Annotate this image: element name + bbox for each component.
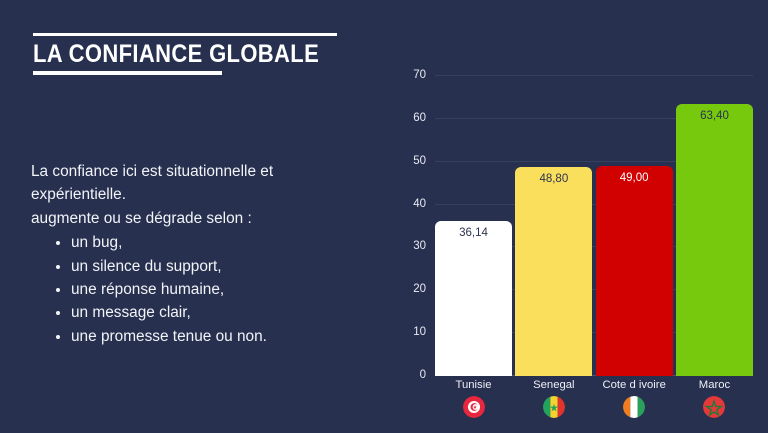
chart-y-tick-label: 60 (413, 112, 426, 124)
chart-bar-value-label: 63,40 (676, 110, 753, 122)
chart-bar-value-label: 36,14 (435, 227, 512, 239)
body-bullet-list: un bug, un silence du support, une répon… (31, 231, 371, 348)
chart-flag-cell (676, 396, 753, 418)
chart-category-label: Cote d ivoire (596, 379, 673, 391)
chart-plot-area: 010203040506070 36,1448,8049,0063,40 (435, 76, 753, 376)
chart-bar-slot[interactable]: 63,40 (676, 76, 753, 376)
chart-bar-value-label: 48,80 (515, 173, 592, 185)
morocco-flag-icon (703, 396, 725, 418)
chart-bar[interactable]: 36,14 (435, 221, 512, 376)
chart-bar-slot[interactable]: 49,00 (596, 76, 673, 376)
chart-flag-cell (596, 396, 673, 418)
chart-y-tick-label: 20 (413, 283, 426, 295)
title-block: LA CONFIANCE GLOBALE (33, 33, 337, 75)
chart-flag-cell (515, 396, 592, 418)
chart-flag-row (435, 396, 753, 418)
chart-flag-cell (435, 396, 512, 418)
senegal-flag-icon (543, 396, 565, 418)
chart-category-labels: TunisieSenegalCote d ivoireMaroc (435, 379, 753, 391)
chart-bar-slot[interactable]: 36,14 (435, 76, 512, 376)
chart-bar-value-label: 49,00 (596, 172, 673, 184)
chart-category-label: Senegal (515, 379, 592, 391)
left-content-panel: LA CONFIANCE GLOBALE La confiance ici es… (0, 0, 400, 433)
list-item: une réponse humaine, (55, 278, 371, 301)
body-paragraph-1: La confiance ici est situationnelle et e… (31, 160, 371, 207)
cote-divoire-flag-icon (623, 396, 645, 418)
chart-bar[interactable]: 48,80 (515, 167, 592, 376)
body-text-block: La confiance ici est situationnelle et e… (31, 160, 371, 348)
chart-bar[interactable]: 49,00 (596, 166, 673, 376)
title-rule-bottom (33, 71, 222, 75)
chart-y-tick-label: 10 (413, 326, 426, 338)
list-item: un bug, (55, 231, 371, 254)
page-title: LA CONFIANCE GLOBALE (33, 41, 301, 67)
chart-bar-slot[interactable]: 48,80 (515, 76, 592, 376)
list-item: un silence du support, (55, 255, 371, 278)
chart-bars-group: 36,1448,8049,0063,40 (435, 76, 753, 376)
chart-y-tick-label: 0 (420, 369, 426, 381)
chart-y-tick-label: 30 (413, 240, 426, 252)
chart-y-tick-label: 70 (413, 69, 426, 81)
slide-canvas: LA CONFIANCE GLOBALE La confiance ici es… (0, 0, 768, 433)
chart-category-label: Tunisie (435, 379, 512, 391)
chart-y-tick-label: 40 (413, 198, 426, 210)
tunisia-flag-icon (463, 396, 485, 418)
chart-bar[interactable]: 63,40 (676, 104, 753, 376)
list-item: une promesse tenue ou non. (55, 325, 371, 348)
chart-category-label: Maroc (676, 379, 753, 391)
bar-chart: 010203040506070 36,1448,8049,0063,40 Tun… (400, 0, 768, 433)
body-paragraph-2: augmente ou se dégrade selon : (31, 207, 371, 230)
chart-y-tick-label: 50 (413, 155, 426, 167)
title-rule-top (33, 33, 337, 36)
list-item: un message clair, (55, 301, 371, 324)
